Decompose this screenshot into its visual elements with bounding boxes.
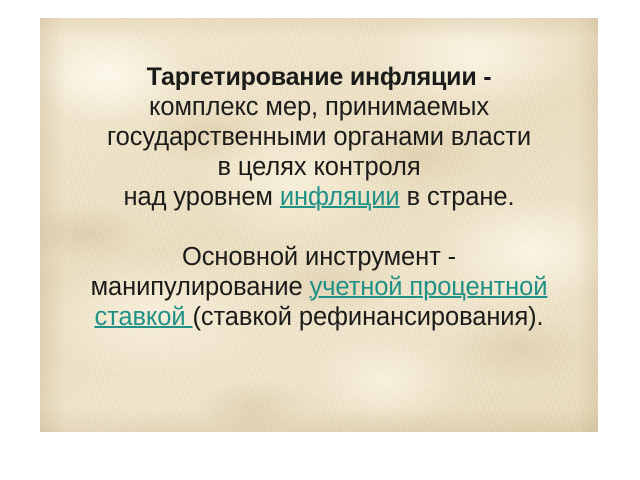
text-run: Основной инструмент - xyxy=(182,243,456,271)
text-run: над уровнем xyxy=(124,183,280,211)
text-line: в целях контроля xyxy=(40,152,598,182)
text-run: (ставкой рефинансирования). xyxy=(192,303,543,331)
text-line: Таргетирование инфляции - xyxy=(40,62,598,92)
text-run: в целях контроля xyxy=(217,153,420,181)
text-line: над уровнем инфляции в стране. xyxy=(40,182,598,212)
text-line: комплекс мер, принимаемых xyxy=(40,92,598,122)
hyperlink-instrument-2-0[interactable]: ставкой xyxy=(94,303,192,331)
parchment-background-panel: Таргетирование инфляции -комплекс мер, п… xyxy=(40,18,598,432)
hyperlink-definition-4-1[interactable]: инфляции xyxy=(280,183,400,211)
text-run: комплекс мер, принимаемых xyxy=(149,93,489,121)
text-run: государственными органами власти xyxy=(107,123,531,151)
text-line: государственными органами власти xyxy=(40,122,598,152)
paragraph-instrument: Основной инструмент -манипулирование уче… xyxy=(40,242,598,332)
text-run: манипулирование xyxy=(91,273,310,301)
paragraph-definition: Таргетирование инфляции -комплекс мер, п… xyxy=(40,62,598,212)
text-line: манипулирование учетной процентной xyxy=(40,272,598,302)
text-run: Таргетирование инфляции - xyxy=(147,63,492,91)
text-run: в стране. xyxy=(400,183,515,211)
slide-canvas: Таргетирование инфляции -комплекс мер, п… xyxy=(0,0,640,480)
text-line: ставкой (ставкой рефинансирования). xyxy=(40,302,598,332)
slide-text-block: Таргетирование инфляции -комплекс мер, п… xyxy=(40,62,598,332)
text-line: Основной инструмент - xyxy=(40,242,598,272)
paragraph-spacer xyxy=(40,212,598,242)
hyperlink-instrument-1-1[interactable]: учетной процентной xyxy=(310,273,548,301)
